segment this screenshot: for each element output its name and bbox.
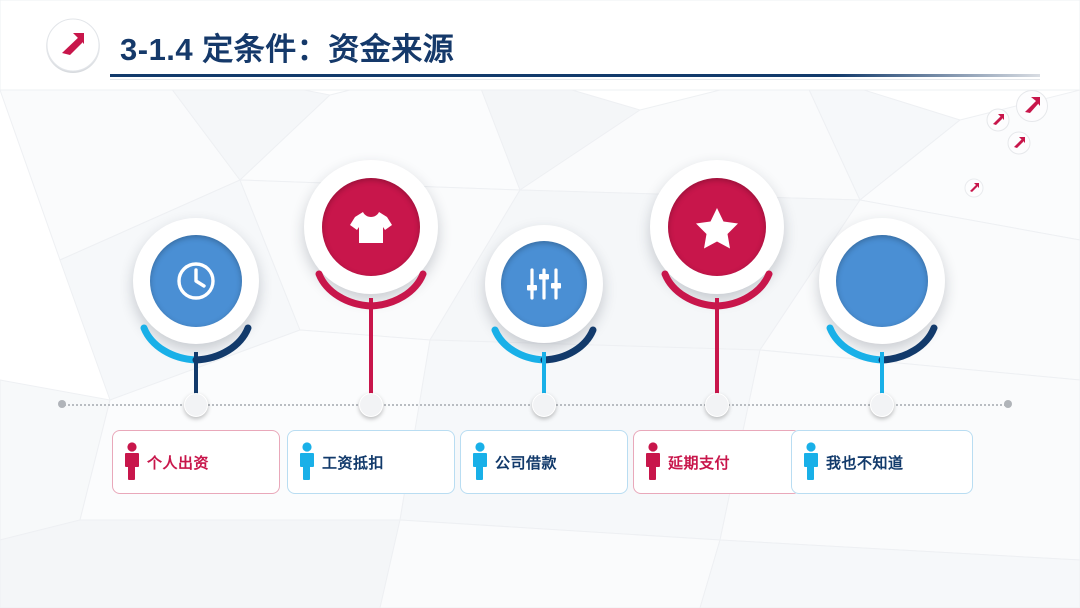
node-1-label-box[interactable]: 个人出资 <box>112 430 280 494</box>
node-5-label: 我也不知道 <box>826 452 904 473</box>
node-5-inner-disc <box>836 235 928 327</box>
node-5-label-box[interactable]: 我也不知道 <box>791 430 973 494</box>
person-icon <box>469 440 491 484</box>
node-5-timeline-dot <box>870 393 894 417</box>
tshirt-icon <box>345 201 397 253</box>
node-3-timeline-dot <box>532 393 556 417</box>
node-4-timeline-dot <box>705 393 729 417</box>
node-2-label: 工资抵扣 <box>322 452 384 473</box>
node-3-label: 公司借款 <box>495 452 557 473</box>
timeline-node-5[interactable]: 我也不知道 <box>777 0 987 608</box>
timeline-cap-left <box>58 400 66 408</box>
node-3-label-box[interactable]: 公司借款 <box>460 430 628 494</box>
node-4-label-box[interactable]: 延期支付 <box>633 430 801 494</box>
person-icon <box>296 440 318 484</box>
node-4-stem <box>715 298 719 404</box>
node-2-timeline-dot <box>359 393 383 417</box>
clock-icon <box>172 257 220 305</box>
node-1-label: 个人出资 <box>147 452 209 473</box>
star-icon <box>691 201 743 253</box>
node-2-label-box[interactable]: 工资抵扣 <box>287 430 455 494</box>
arrow-up-right-icon <box>1016 90 1048 122</box>
person-icon <box>121 440 143 484</box>
sliders-icon <box>521 261 567 307</box>
node-1-timeline-dot <box>184 393 208 417</box>
node-2-stem <box>369 298 373 404</box>
slide-canvas: 3-1.4 定条件：资金来源 <box>0 0 1080 608</box>
person-icon <box>642 440 664 484</box>
person-icon <box>800 440 822 484</box>
node-4-label: 延期支付 <box>668 452 730 473</box>
arrow-up-right-icon <box>1008 132 1030 154</box>
arrow-up-right-icon <box>987 109 1009 131</box>
timeline-cap-right <box>1004 400 1012 408</box>
